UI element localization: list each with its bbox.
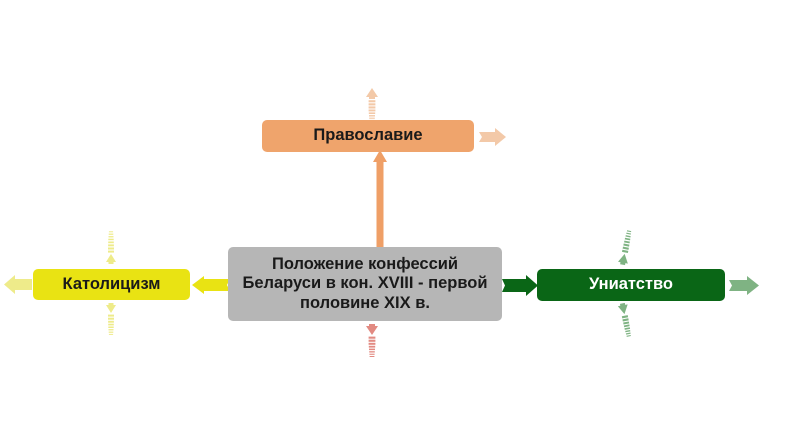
stub-right-of-uniatism-icon [729, 276, 759, 295]
node-orthodoxy[interactable]: Православие [262, 120, 474, 152]
mindmap-canvas: Православие Католицизм Униатство Положен… [0, 0, 800, 434]
stub-below-uniatism-icon [612, 303, 640, 341]
stub-below-root-icon [362, 324, 382, 360]
connector-root-to-orthodoxy [365, 150, 395, 250]
node-catholicism[interactable]: Католицизм [33, 269, 190, 300]
node-uniatism-label: Униатство [589, 275, 673, 294]
connector-root-to-uniatism [502, 275, 538, 296]
stub-right-of-orthodoxy-icon [479, 128, 507, 146]
node-catholicism-label: Католицизм [63, 275, 161, 294]
stub-below-catholicism-icon [102, 303, 120, 339]
connector-root-to-catholicism [192, 274, 230, 296]
node-orthodoxy-label: Православие [313, 126, 422, 145]
stub-left-of-catholicism-icon [4, 275, 32, 294]
node-uniatism[interactable]: Униатство [537, 269, 725, 301]
stub-above-orthodoxy-icon [362, 88, 382, 122]
node-root-label: Положение конфессий Беларуси в кон. XVII… [238, 255, 492, 313]
node-root[interactable]: Положение конфессий Беларуси в кон. XVII… [228, 247, 502, 321]
stub-above-uniatism-icon [612, 227, 640, 267]
stub-above-catholicism-icon [102, 228, 120, 266]
